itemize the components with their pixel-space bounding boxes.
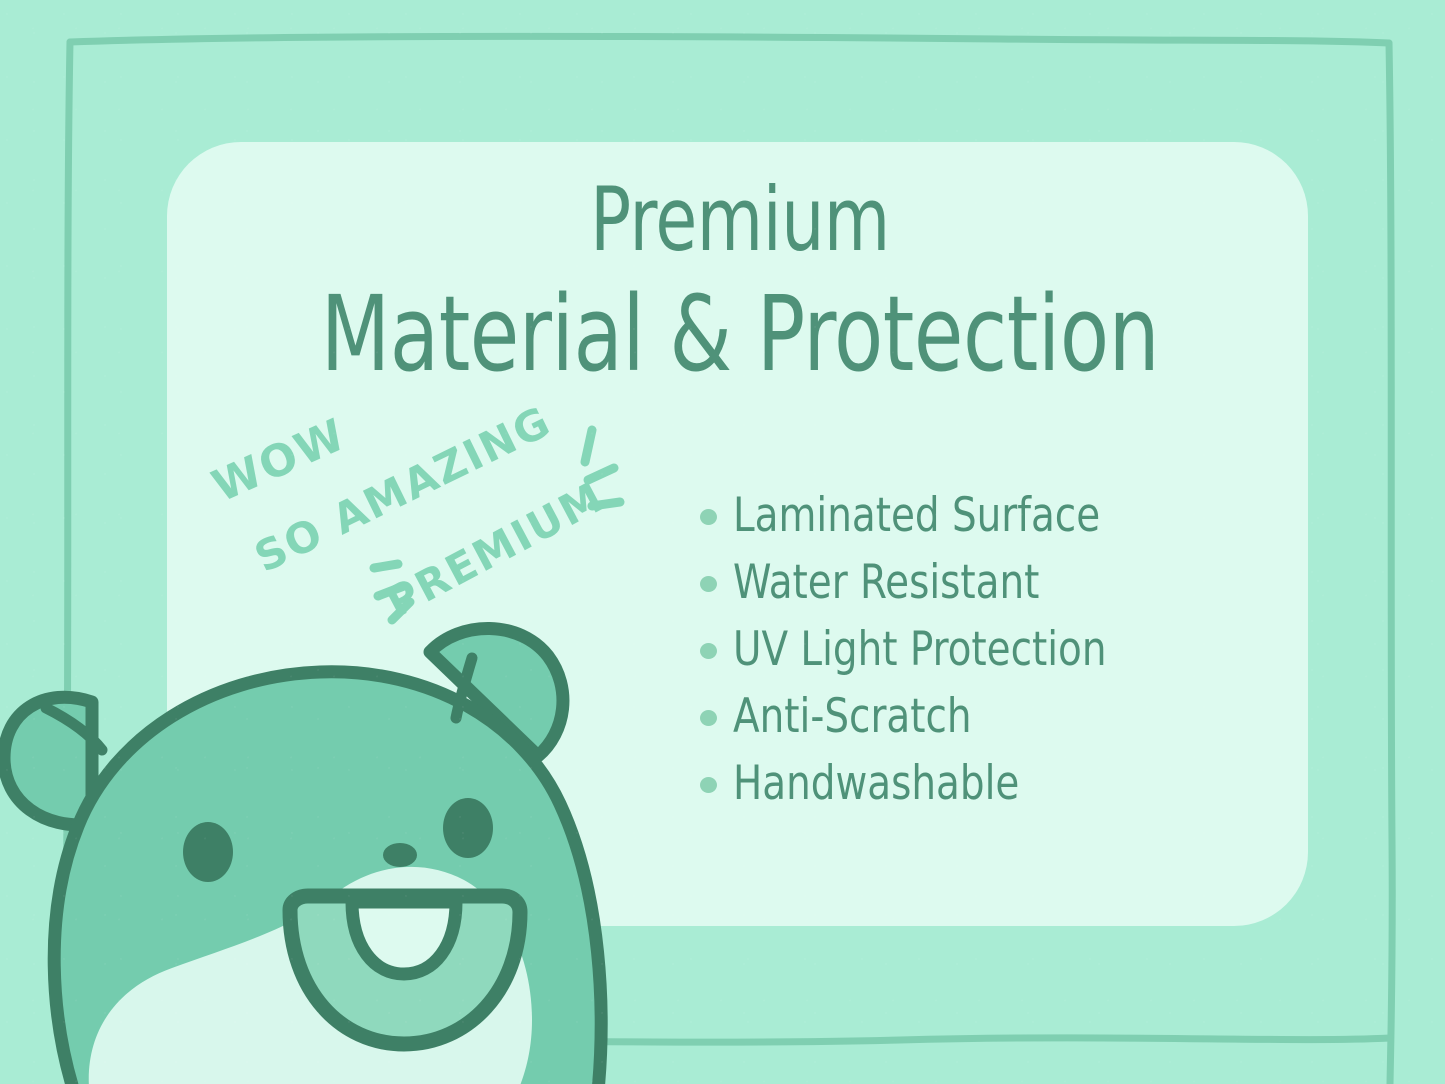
feature-list: Laminated Surface Water Resistant UV Lig…: [700, 482, 1220, 817]
bullet-dot-icon: [700, 643, 717, 659]
bullet-dot-icon: [700, 576, 717, 592]
page-title: Premium Material & Protection: [180, 176, 1300, 386]
title-line-1: Premium: [258, 176, 1221, 264]
feature-label: Laminated Surface: [733, 488, 1100, 543]
feature-label: Handwashable: [733, 756, 1019, 811]
promo-graphic: Premium Material & Protection Laminated …: [0, 0, 1445, 1084]
list-item: Laminated Surface: [700, 482, 1220, 549]
feature-label: Anti-Scratch: [733, 689, 972, 744]
list-item: Water Resistant: [700, 549, 1220, 616]
bullet-dot-icon: [700, 710, 717, 726]
list-item: UV Light Protection: [700, 616, 1220, 683]
bullet-dot-icon: [700, 509, 717, 525]
feature-label: UV Light Protection: [733, 622, 1106, 677]
feature-label: Water Resistant: [733, 555, 1039, 610]
list-item: Handwashable: [700, 750, 1220, 817]
title-line-2: Material & Protection: [258, 282, 1221, 386]
bullet-dot-icon: [700, 777, 717, 793]
list-item: Anti-Scratch: [700, 683, 1220, 750]
